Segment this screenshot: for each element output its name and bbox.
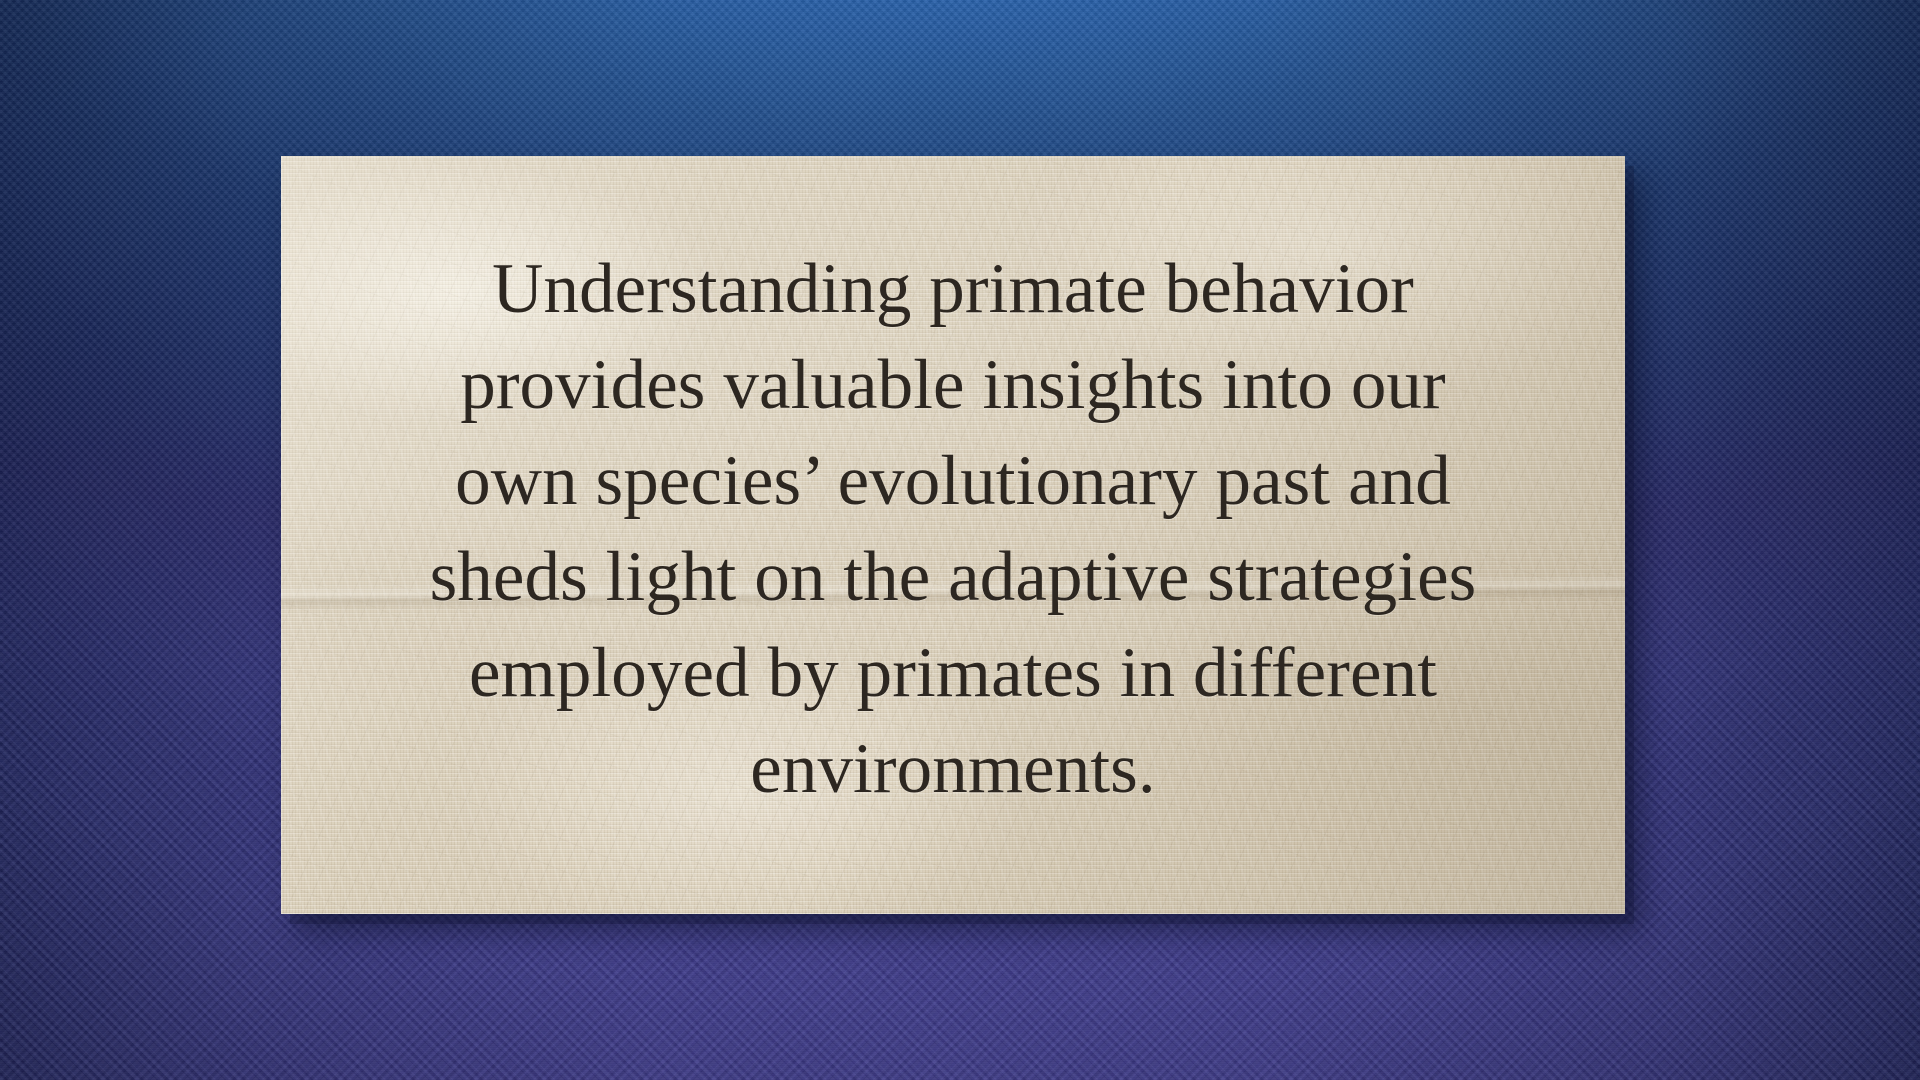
quote-line: provides valuable insights into our — [460, 337, 1446, 433]
slide-canvas: Understanding primate behavior provides … — [0, 0, 1920, 1080]
quote-text-block: Understanding primate behavior provides … — [281, 156, 1625, 914]
paper-card: Understanding primate behavior provides … — [281, 156, 1625, 914]
quote-line: own species’ evolutionary past and — [455, 433, 1451, 529]
quote-line: environments. — [750, 721, 1156, 817]
quote-line: sheds light on the adaptive strategies — [430, 529, 1477, 625]
quote-line: Understanding primate behavior — [492, 241, 1414, 337]
quote-line: employed by primates in different — [469, 625, 1437, 721]
